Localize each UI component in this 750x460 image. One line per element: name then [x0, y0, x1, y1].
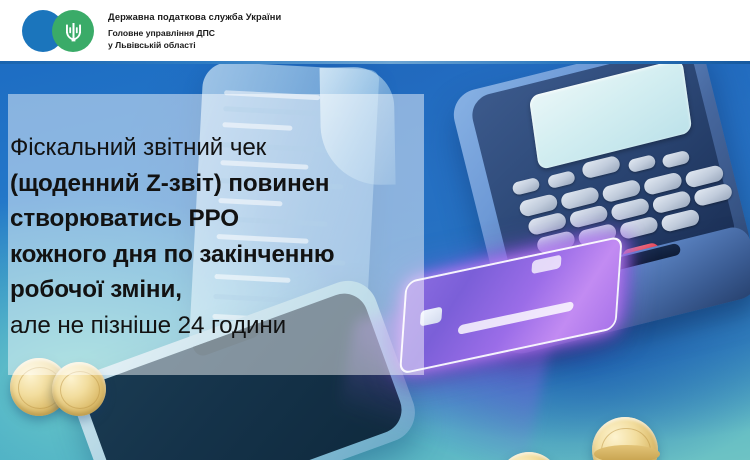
- key-fn-2: [547, 170, 576, 189]
- header-divider: [0, 61, 750, 64]
- message-line-4: кожного дня по закінченню: [10, 237, 414, 273]
- message-line-5: робочої зміни,: [10, 272, 414, 308]
- key-fn-3: [581, 155, 622, 180]
- tax-service-logo: [22, 10, 96, 54]
- tax-service-info-banner: Державна податкова служба України Головн…: [0, 0, 750, 460]
- message-line-2: (щоденний Z-звіт) повинен: [10, 166, 414, 202]
- key-extra: [660, 208, 701, 233]
- department-line-1: Головне управління ДПС: [108, 28, 281, 40]
- page-header: Державна податкова служба України Головн…: [0, 0, 750, 62]
- header-text-block: Державна податкова служба України Головн…: [108, 9, 281, 51]
- key-fn-5: [661, 150, 690, 169]
- key-fn-1: [511, 177, 540, 196]
- message-line-3: створюватись РРО: [10, 201, 414, 237]
- header-content: Державна податкова служба України Головн…: [22, 9, 281, 54]
- organization-title: Державна податкова служба України: [108, 11, 281, 23]
- coin-3-edge: [594, 445, 660, 460]
- card-tab: [531, 255, 561, 275]
- message-line-1: Фіскальний звітний чек: [10, 130, 414, 166]
- banner-message: Фіскальний звітний чек (щоденний Z-звіт)…: [10, 130, 414, 344]
- message-line-6: але не пізніше 24 години: [10, 308, 414, 344]
- banner-artwork: Фіскальний звітний чек (щоденний Z-звіт)…: [0, 62, 750, 460]
- department-name: Головне управління ДПС у Львівській обла…: [108, 28, 281, 51]
- key-fn-4: [627, 154, 656, 173]
- logo-green-circle-icon: [52, 10, 94, 52]
- card-stripe: [458, 301, 574, 335]
- key-0: [693, 182, 734, 207]
- trident-icon: [65, 21, 82, 42]
- department-line-2: у Львівській області: [108, 40, 281, 52]
